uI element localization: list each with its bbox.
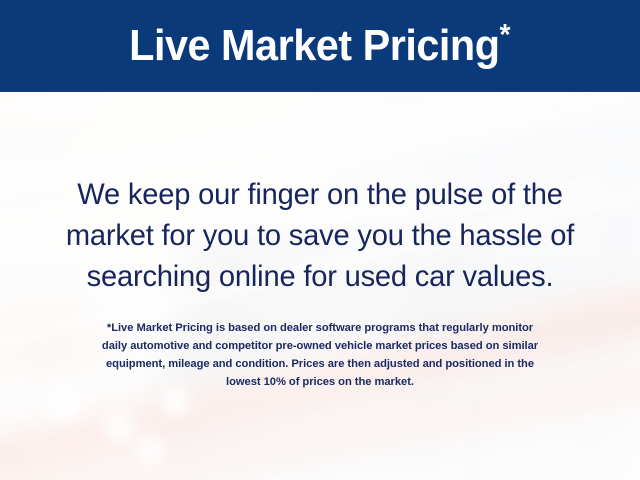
fine-print-line-4: lowest 10% of prices on the market. [30,373,610,391]
headline-line-1: We keep our finger on the pulse of the [31,174,609,215]
headline-line-2: market for you to save you the hassle of [31,215,609,256]
fine-print-line-2: daily automotive and competitor pre-owne… [30,337,610,355]
fine-print-line-3: equipment, mileage and condition. Prices… [30,355,610,373]
fine-print-disclaimer: *Live Market Pricing is based on dealer … [30,319,610,391]
content-area: We keep our finger on the pulse of the m… [0,91,640,480]
fine-print-line-1: *Live Market Pricing is based on dealer … [30,319,610,337]
live-market-pricing-poster: Live Market Pricing* We keep our finger … [0,0,640,480]
page-title-text: Live Market Pricing [130,21,500,70]
header-band: Live Market Pricing* [0,0,640,91]
headline-line-3: searching online for used car values. [31,256,609,297]
page-title-asterisk: * [500,18,511,51]
headline: We keep our finger on the pulse of the m… [22,174,618,297]
page-title: Live Market Pricing* [130,24,511,68]
